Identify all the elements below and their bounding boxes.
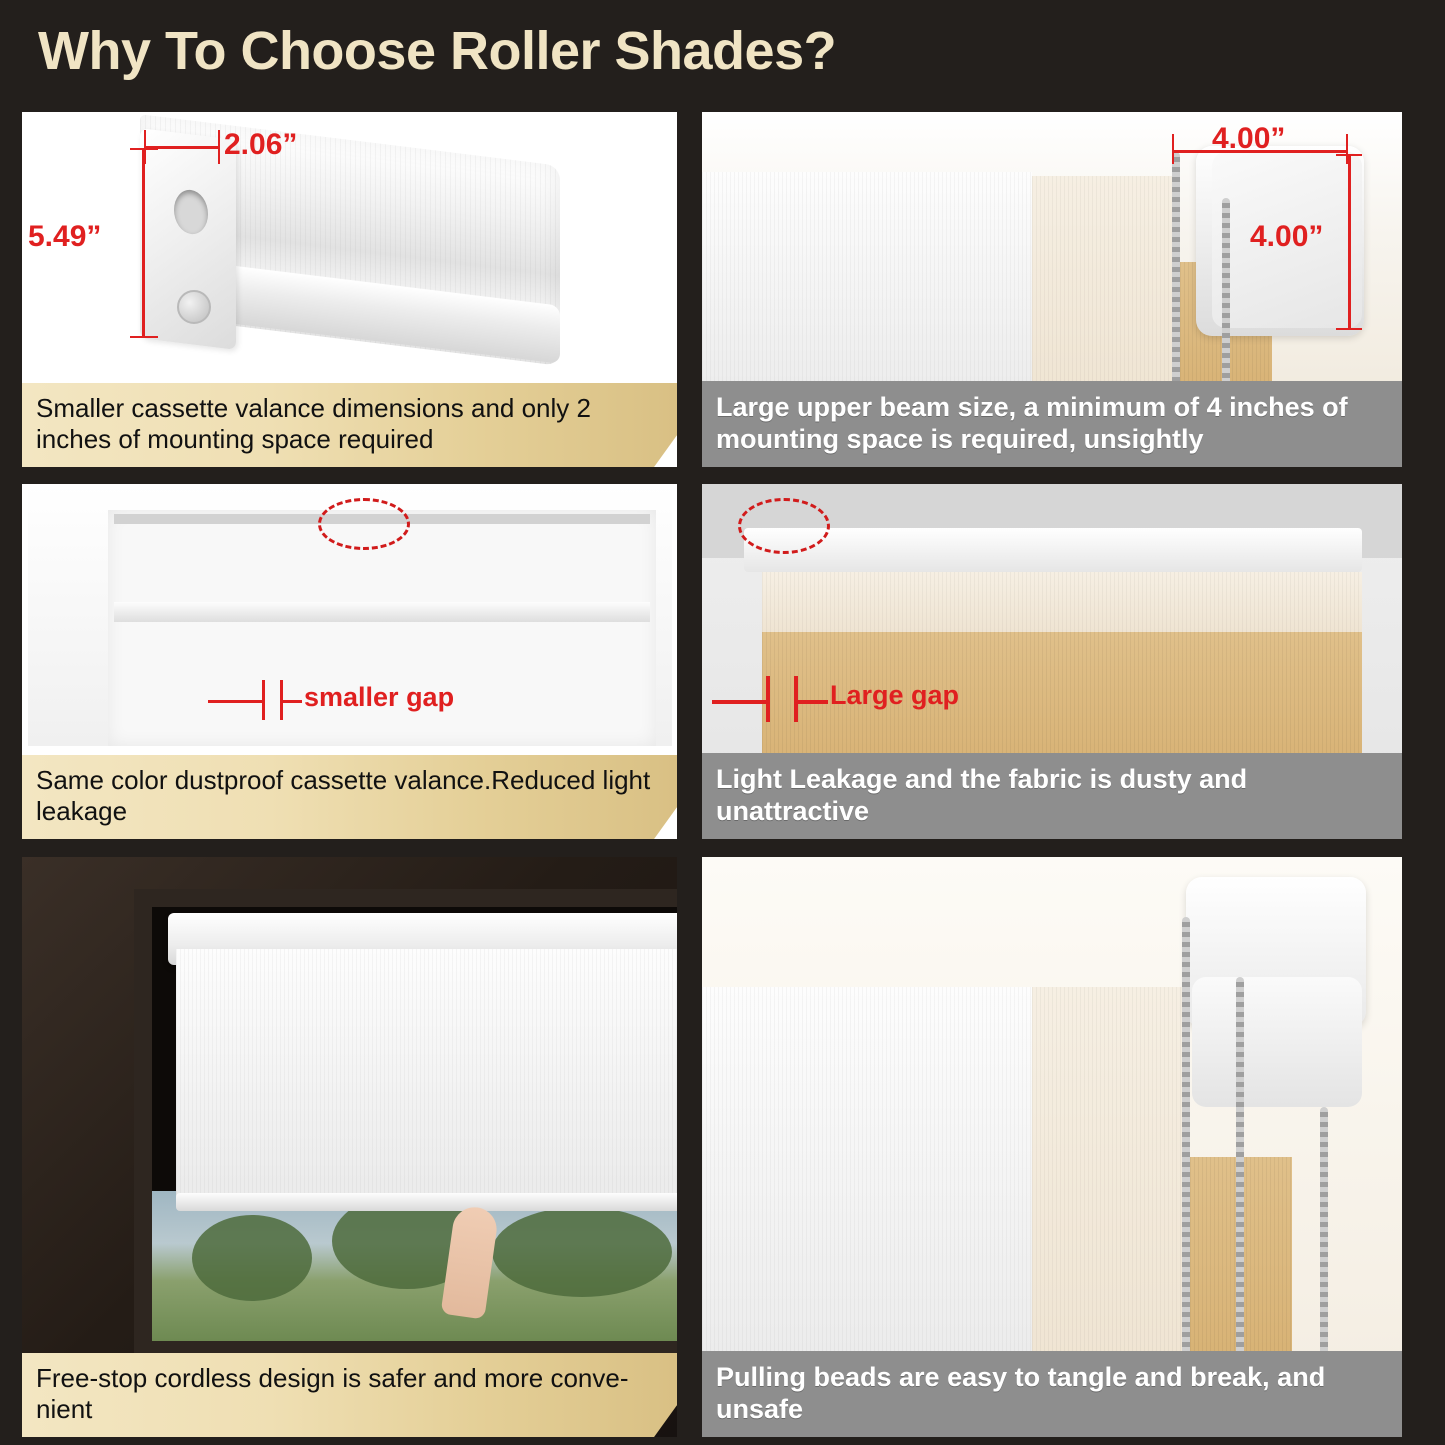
valance-screw	[177, 290, 211, 324]
roller-beam-lower	[1192, 977, 1362, 1107]
card-bottom-left: Free-stop cordless design is safer and m…	[22, 857, 677, 1437]
fabric-panel-cream	[1032, 987, 1182, 1377]
dim2-width-tick-left	[1172, 134, 1174, 164]
infographic-page: Why To Choose Roller Shades? 2.06”	[0, 0, 1445, 1445]
dim-height-label: 5.49”	[28, 220, 101, 254]
roller-tube	[744, 528, 1362, 572]
fabric-top-cream	[762, 572, 1362, 632]
shade-fabric	[176, 949, 677, 1199]
dim2-height-line	[1348, 154, 1351, 330]
caption-bottom-left: Free-stop cordless design is safer and m…	[22, 1353, 677, 1437]
card-top-left: 2.06” 5.49” Smaller cassette valance dim…	[22, 112, 677, 467]
photo-bead-chain-shade	[702, 857, 1402, 1437]
gap-label-large: Large gap	[830, 680, 959, 711]
caption-top-right: Large upper beam size, a minimum of 4 in…	[702, 381, 1402, 467]
tree-shape	[192, 1215, 312, 1301]
dim2-width-label: 4.00”	[1212, 122, 1285, 156]
valance-rail	[114, 602, 650, 622]
window-view-sky	[152, 1191, 677, 1341]
card-middle-left: smaller gap Same color dustproof cassett…	[22, 484, 677, 839]
gap-tick-a	[262, 680, 265, 720]
caption-top-left: Smaller cassette valance dimensions and …	[22, 383, 677, 467]
highlight-ellipse	[318, 498, 410, 550]
gap-tick-b	[794, 676, 798, 722]
window-frame	[134, 889, 677, 1359]
card-top-right: 4.00” 4.00” Large upper beam size, a min…	[702, 112, 1402, 467]
dim-width-label: 2.06”	[224, 128, 297, 162]
bead-chain-left	[1182, 917, 1190, 1377]
shade-bottom-rail	[176, 1193, 677, 1211]
highlight-ellipse	[738, 498, 830, 554]
bead-chain-middle	[1236, 977, 1244, 1377]
bead-chain-right	[1222, 198, 1230, 408]
bead-chain-left	[1172, 152, 1180, 408]
caption-middle-right: Light Leakage and the fabric is dusty an…	[702, 753, 1402, 839]
dim-height-line	[142, 148, 145, 338]
caption-bottom-right: Pulling beads are easy to tangle and bre…	[702, 1351, 1402, 1437]
dim2-height-tick-bottom	[1336, 328, 1362, 330]
gap-arrow-right	[280, 700, 302, 703]
dim2-height-label: 4.00”	[1250, 220, 1323, 254]
fabric-panel-white	[702, 172, 1032, 408]
gap-arrow-left	[712, 700, 768, 704]
tree-shape	[492, 1207, 672, 1297]
gap-tick-a	[766, 676, 770, 722]
dim-height-tick-bottom	[130, 336, 158, 338]
gap-label-small: smaller gap	[304, 682, 454, 713]
card-middle-right: Large gap Light Leakage and the fabric i…	[702, 484, 1402, 839]
gap-arrow-left	[208, 700, 264, 703]
photo-room-scene	[22, 857, 677, 1437]
bead-chain-right	[1320, 1107, 1328, 1377]
gap-arrow-right	[798, 700, 828, 704]
dim2-height-tick-top	[1336, 154, 1362, 156]
fabric-panel-cream	[1032, 176, 1172, 408]
card-grid: 2.06” 5.49” Smaller cassette valance dim…	[22, 112, 1422, 1432]
fabric-panel-white	[702, 987, 1032, 1377]
page-title: Why To Choose Roller Shades?	[38, 20, 1398, 90]
card-bottom-right: Pulling beads are easy to tangle and bre…	[702, 857, 1402, 1437]
dim-height-tick-top	[130, 148, 158, 150]
caption-middle-left: Same color dustproof cassette valance.Re…	[22, 755, 677, 839]
